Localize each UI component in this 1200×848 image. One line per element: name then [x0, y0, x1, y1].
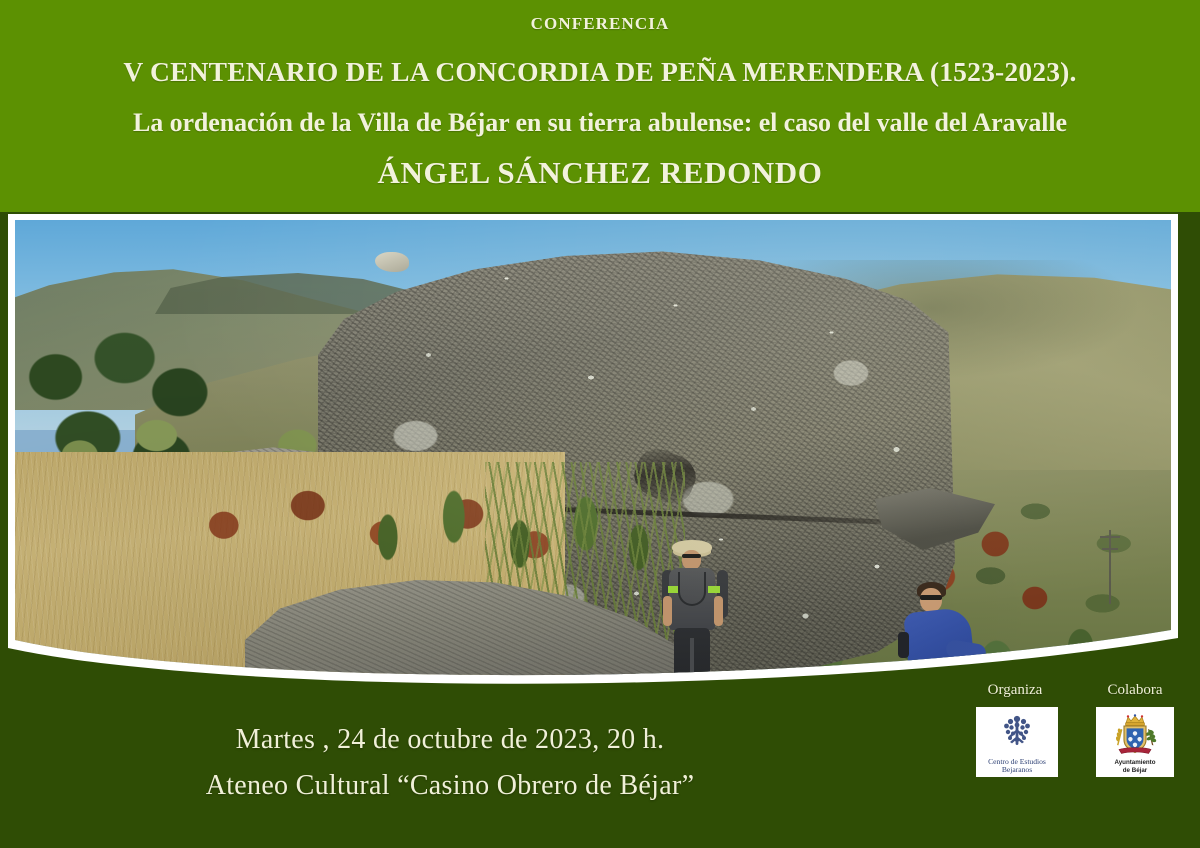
- water-bottle: [898, 632, 909, 658]
- poster-title-line-2: La ordenación de la Villa de Béjar en su…: [0, 108, 1200, 138]
- hiker-head: [920, 588, 942, 612]
- credit-colabora: Colabora: [1096, 682, 1174, 777]
- event-date: Martes , 24 de octubre de 2023, 20 h.: [0, 724, 900, 756]
- event-venue: Ateneo Cultural “Casino Obrero de Béjar”: [0, 770, 900, 802]
- sunglasses: [920, 595, 942, 600]
- hiker-arm-right: [714, 596, 723, 626]
- organiza-caption: Organiza: [976, 682, 1054, 699]
- ayto-logo-text: Ayuntamiento de Béjar: [1096, 759, 1174, 774]
- ayto-logo-text-line1: Ayuntamiento: [1096, 759, 1174, 766]
- centro-de-estudios-bejaranos-logo: Centro de Estudios Bejaranos: [976, 707, 1058, 777]
- credit-organiza: Organiza: [976, 682, 1054, 777]
- landscape-photo: [15, 220, 1171, 682]
- ayto-logo-text-line2: de Béjar: [1096, 767, 1174, 774]
- kicker-label: CONFERENCIA: [0, 14, 1200, 34]
- hi-vis-band-right: [708, 586, 720, 593]
- hiker-arm: [945, 639, 988, 664]
- poster-title-line-1: V CENTENARIO DE LA CONCORDIA DE PEÑA MER…: [0, 56, 1200, 88]
- header-band: CONFERENCIA V CENTENARIO DE LA CONCORDIA…: [0, 0, 1200, 212]
- hiker-head: [682, 550, 701, 570]
- photo-frame-inner: [15, 220, 1171, 682]
- event-details: Martes , 24 de octubre de 2023, 20 h. At…: [0, 724, 900, 802]
- ayuntamiento-de-bejar-logo: Ayuntamiento de Béjar: [1096, 707, 1174, 777]
- speaker-name: ÁNGEL SÁNCHEZ REDONDO: [0, 155, 1200, 191]
- photo-frame: [8, 214, 1178, 684]
- hiker-legs: [674, 628, 710, 682]
- sunglasses: [682, 554, 701, 558]
- coat-of-arms-icon: [1107, 711, 1163, 759]
- conference-poster: CONFERENCIA V CENTENARIO DE LA CONCORDIA…: [0, 0, 1200, 848]
- ceb-emblem-icon: [994, 711, 1040, 757]
- colabora-caption: Colabora: [1096, 682, 1174, 699]
- hiker-standing: [660, 540, 732, 682]
- credits-logos: Organiza: [976, 682, 1174, 777]
- boulder-cap-stone: [375, 252, 409, 272]
- chest-strap: [678, 572, 706, 606]
- ceb-logo-text-line2: Bejaranos: [976, 766, 1058, 774]
- hiker-torso: [903, 607, 975, 674]
- ceb-logo-text: Centro de Estudios Bejaranos: [976, 758, 1058, 774]
- hiker-arm-left: [663, 596, 672, 626]
